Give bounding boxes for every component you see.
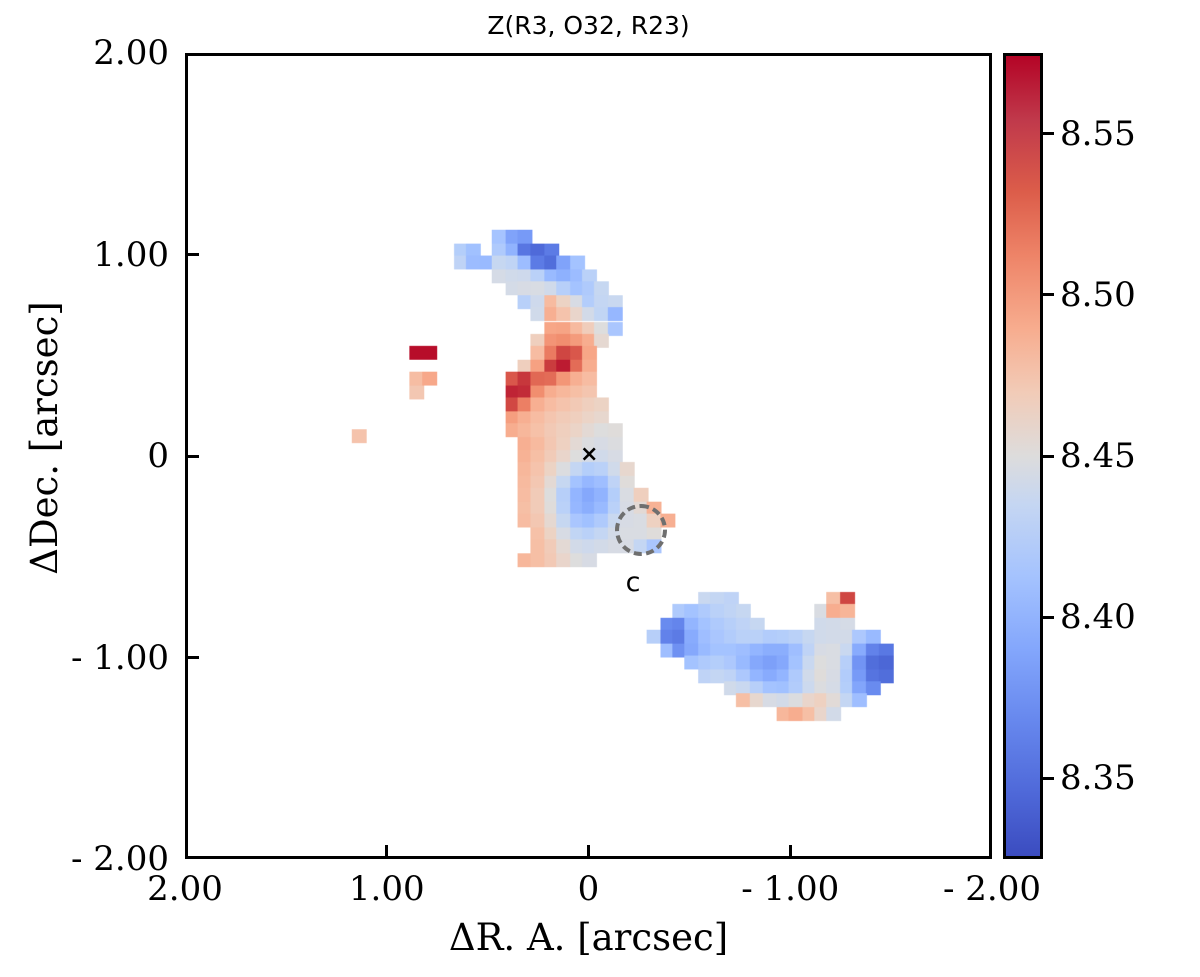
page-title: Z(R3, O32, R23) <box>185 10 992 42</box>
metallicity-map-figure: Z(R3, O32, R23) × c 2.001.000- 1.00- 2.0… <box>0 0 1200 977</box>
x-axis-label: ΔR. A. [arcsec] <box>185 916 992 960</box>
colorbar-tick-mark <box>1043 777 1054 780</box>
x-tick-label: - 1.00 <box>700 872 880 906</box>
colorbar-tick-label: 8.35 <box>1060 761 1136 795</box>
colorbar-tick-mark <box>1043 132 1054 135</box>
clump-label: c <box>612 568 654 598</box>
colorbar-tick-mark <box>1043 616 1054 619</box>
colorbar-tick-mark <box>1043 293 1054 296</box>
y-tick-mark <box>185 455 199 458</box>
colorbar-tick-label: 8.55 <box>1060 117 1136 151</box>
x-tick-mark <box>587 845 590 859</box>
x-tick-mark <box>789 845 792 859</box>
colorbar-tick-label: 8.45 <box>1060 439 1136 473</box>
colorbar-tick-label: 8.40 <box>1060 600 1136 634</box>
x-tick-label: - 2.00 <box>902 872 1082 906</box>
galaxy-center-marker: × <box>580 446 598 464</box>
clump-aperture-circle <box>615 504 667 556</box>
x-tick-label: 1.00 <box>297 872 477 906</box>
x-tick-label: 2.00 <box>95 872 275 906</box>
y-axis-label: ΔDec. [arcsec] <box>25 35 65 841</box>
x-tick-label: 0 <box>499 872 679 906</box>
y-tick-label: - 2.00 <box>0 842 169 876</box>
colorbar <box>1003 53 1043 859</box>
y-tick-mark <box>185 253 199 256</box>
colorbar-tick-label: 8.50 <box>1060 278 1136 312</box>
colorbar-tick-mark <box>1043 455 1054 458</box>
x-tick-mark <box>385 845 388 859</box>
y-tick-mark <box>185 656 199 659</box>
